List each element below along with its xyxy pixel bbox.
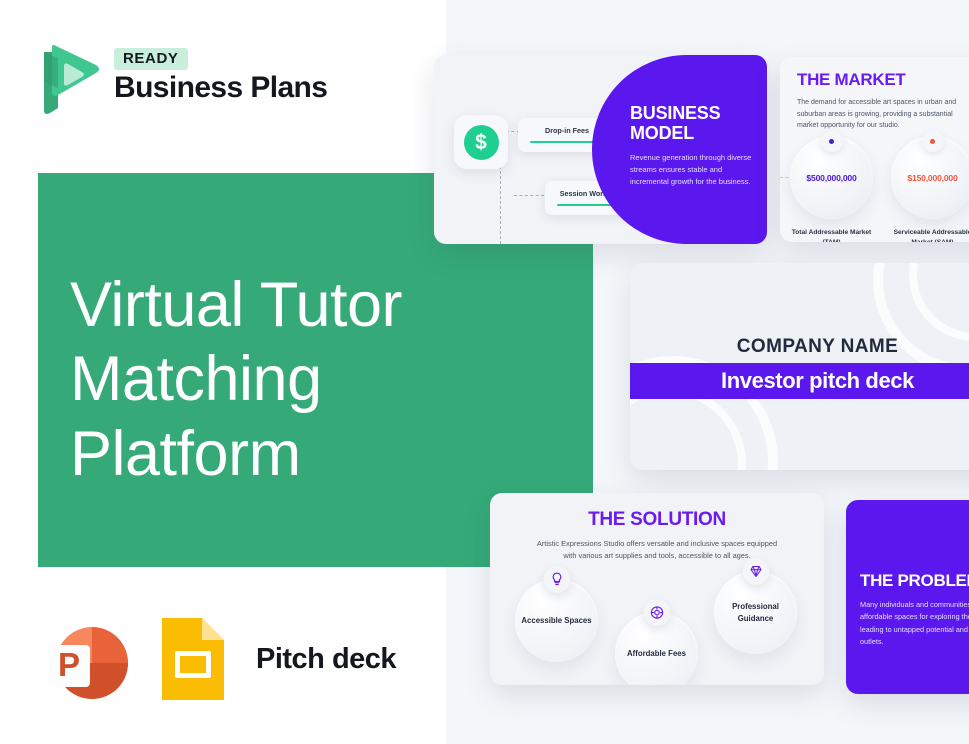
slide-market[interactable]: THE MARKET The demand for accessible art… [780,57,969,242]
metric-value: $500,000,000 [806,173,856,183]
page-title: Virtual Tutor Matching Platform [70,268,490,491]
slide-problem[interactable]: THE PROBLEM Many individuals and communi… [846,500,969,694]
format-row: P Pitch deck [40,612,396,706]
market-metric: $150,000,000 Serviceable Addressable Mar… [891,136,969,242]
target-icon [643,599,670,626]
metric-dot-icon [922,130,944,152]
market-description: The demand for accessible art spaces in … [797,97,960,132]
ready-badge: READY [114,48,188,70]
metric-caption: Total Addressable Market (TAM) [790,228,873,242]
slide-solution[interactable]: THE SOLUTION Artistic Expressions Studio… [490,493,824,685]
company-name: COMPANY NAME [630,336,969,358]
poster-canvas: READY Business Plans Virtual Tutor Match… [0,0,969,744]
business-model-panel: BUSINESS MODEL Revenue generation throug… [592,55,767,244]
market-metric: $500,000,000 Total Addressable Market (T… [790,136,873,242]
solution-node: Accessible Spaces [515,579,598,662]
slide-cover[interactable]: COMPANY NAME Investor pitch deck [630,263,969,470]
metric-caption: Serviceable Addressable Market (SAM) [891,228,969,242]
metric-dot-icon [821,130,843,152]
market-title: THE MARKET [797,70,905,90]
play-triangle-logo-icon [38,36,100,116]
diamond-icon [742,558,769,585]
solution-title: THE SOLUTION [490,509,824,531]
business-model-title: BUSINESS MODEL [630,103,753,143]
problem-title: THE PROBLEM [860,571,969,591]
slide-business-model[interactable]: $ Drop-in Fees Session Workshops Commiss… [434,55,767,244]
google-slides-icon [158,614,228,704]
svg-text:P: P [58,646,80,683]
powerpoint-icon: P [40,612,134,706]
problem-description: Many individuals and communities lack ac… [860,599,969,649]
connector-branch-2 [514,195,544,196]
solution-node: Professional Guidance [714,571,797,654]
solution-description: Artistic Expressions Studio offers versa… [532,538,782,562]
metric-value: $150,000,000 [907,173,957,183]
cover-band: Investor pitch deck [630,363,969,399]
cover-subtitle: Investor pitch deck [721,368,914,394]
dollar-sign-icon: $ [454,115,508,169]
brand-logo[interactable]: READY Business Plans [38,36,327,116]
format-label: Pitch deck [256,643,396,676]
business-model-description: Revenue generation through diverse strea… [630,152,753,187]
lightbulb-icon [543,566,570,593]
brand-name: Business Plans [114,72,327,104]
solution-node: Affordable Fees [615,612,698,685]
